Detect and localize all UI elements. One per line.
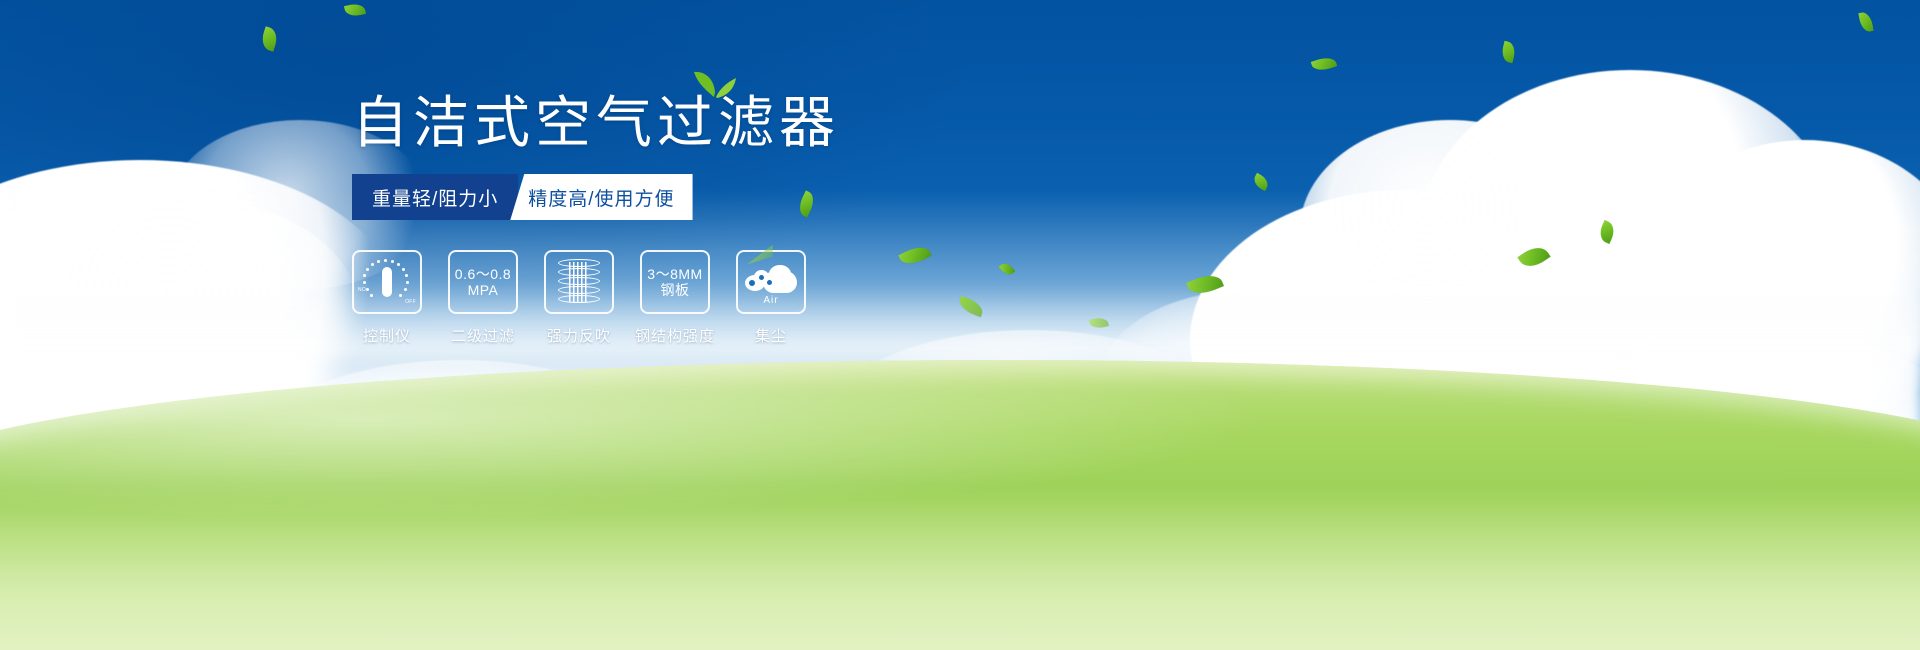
tag-precision[interactable]: 精度高/使用方便 <box>510 174 692 220</box>
gauge-label-no: NO <box>358 287 366 293</box>
page-title: 自洁式空气过滤器 <box>352 96 840 152</box>
title-leaf-icon <box>692 68 738 98</box>
feature-blowback[interactable]: 强力反吹 <box>544 250 614 346</box>
feature-row: NO OFF 控制仪 0.6～0.8 MPA 二级过滤 <box>352 250 1112 346</box>
feature-caption-filtration: 二级过滤 <box>451 325 515 346</box>
green-beam <box>747 245 773 265</box>
title-wrap: 自洁式空气过滤器 <box>352 96 840 152</box>
tag-lightweight[interactable]: 重量轻/阻力小 <box>352 174 518 220</box>
steel-thickness: 3～8MM <box>647 266 702 282</box>
feature-controller-box: NO OFF <box>352 250 422 314</box>
feature-filtration-box: 0.6～0.8 MPA <box>448 250 518 314</box>
feature-steel-box: 3～8MM 钢板 <box>640 250 710 314</box>
air-dust-icon <box>745 259 797 293</box>
steel-material: 钢板 <box>661 282 690 298</box>
feature-caption-steel: 钢结构强度 <box>635 325 715 346</box>
hero-banner: 自洁式空气过滤器 重量轻/阻力小 精度高/使用方便 <box>0 0 1920 650</box>
feature-caption-dust: 集尘 <box>755 325 787 346</box>
banner-content: 自洁式空气过滤器 重量轻/阻力小 精度高/使用方便 <box>352 96 1112 346</box>
air-label: Air <box>763 295 778 306</box>
tag-row: 重量轻/阻力小 精度高/使用方便 <box>352 174 674 220</box>
pressure-unit: MPA <box>468 282 499 298</box>
grass-hill-front <box>0 360 1920 650</box>
feature-caption-blowback: 强力反吹 <box>547 325 611 346</box>
coil-icon <box>558 259 600 305</box>
gauge-label-off: OFF <box>405 299 416 305</box>
feature-dust-collection[interactable]: Air 集尘 <box>736 250 806 346</box>
feature-dust-box: Air <box>736 250 806 314</box>
feature-blowback-box <box>544 250 614 314</box>
pressure-value-range: 0.6～0.8 <box>455 266 511 282</box>
feature-controller[interactable]: NO OFF 控制仪 <box>352 250 422 346</box>
feature-caption-controller: 控制仪 <box>363 325 411 346</box>
gauge-icon: NO OFF <box>359 258 415 306</box>
feature-steel-strength[interactable]: 3～8MM 钢板 钢结构强度 <box>640 250 710 346</box>
grass-highlight <box>0 500 1920 650</box>
feature-filtration[interactable]: 0.6～0.8 MPA 二级过滤 <box>448 250 518 346</box>
